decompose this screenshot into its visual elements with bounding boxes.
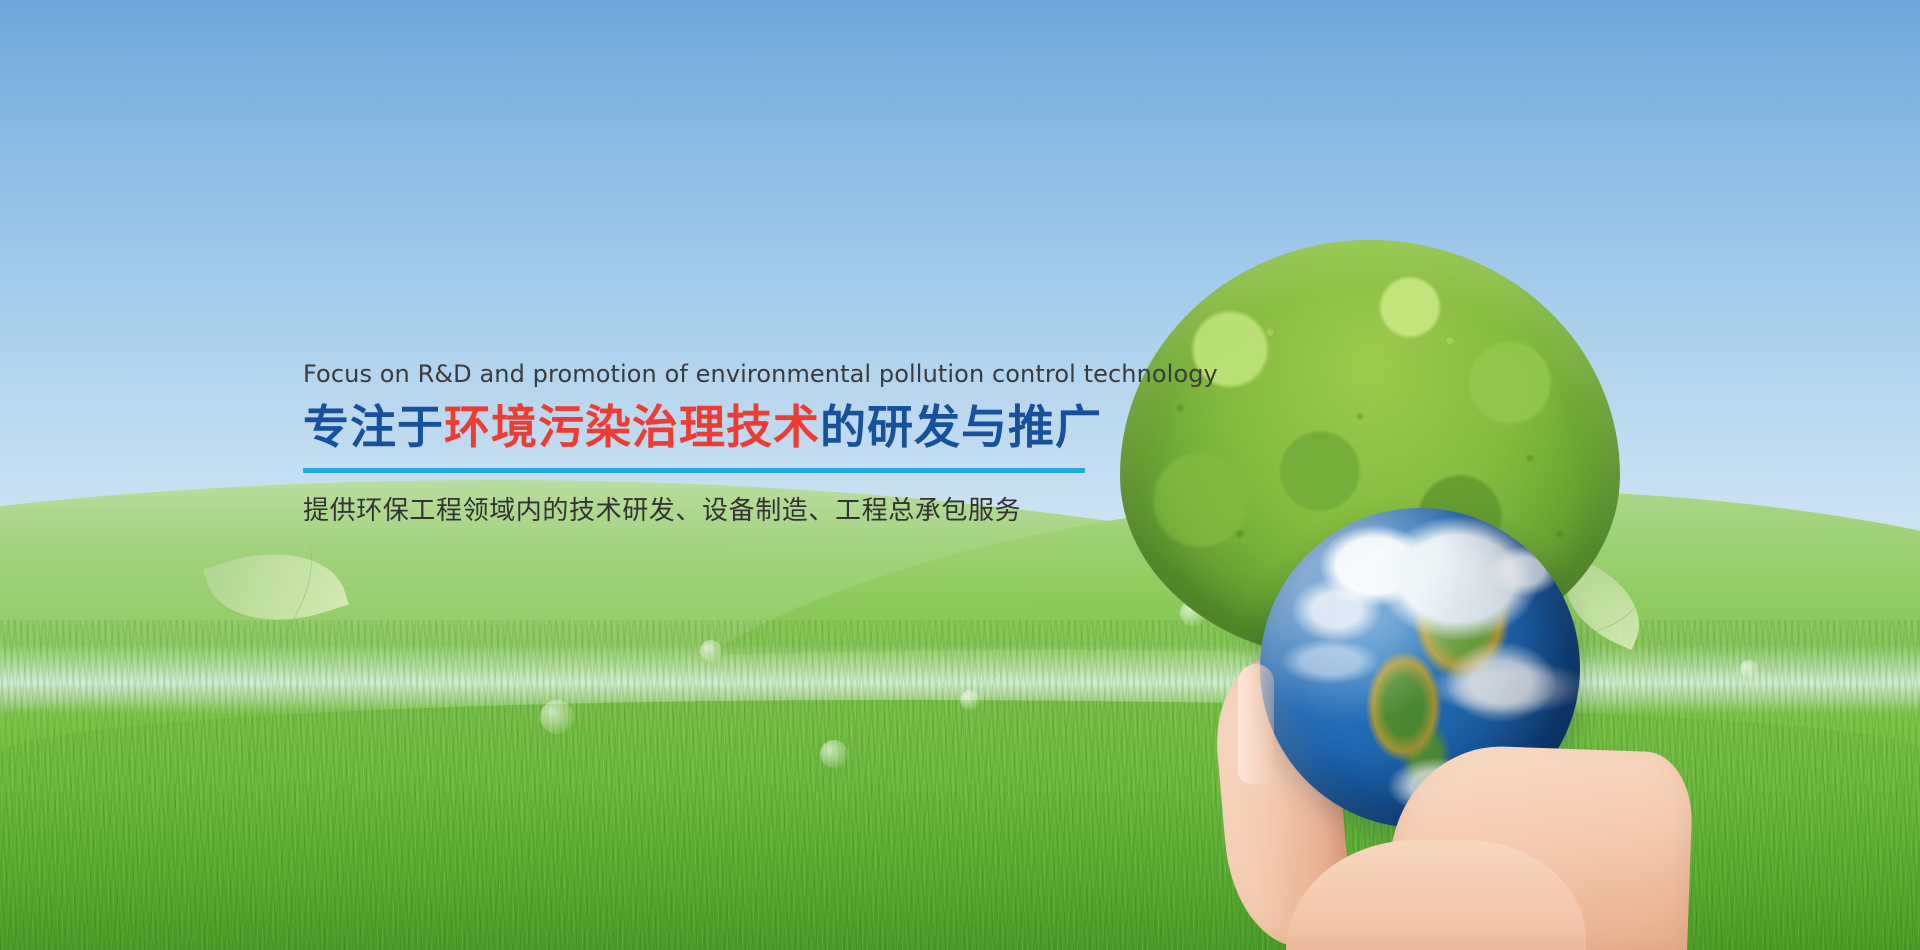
banner-subline-text: 提供环保工程领域内的技术研发、设备制造、工程总承包服务 <box>303 494 1103 528</box>
finger-highlight <box>1238 664 1274 784</box>
headline-emphasis: 环境污染治理技术 <box>444 401 820 453</box>
banner-eyebrow-text: Focus on R&D and promotion of environmen… <box>303 360 1103 389</box>
tree-globe-hands-illustration <box>1090 240 1650 950</box>
headline-divider <box>303 468 1085 473</box>
headline-trail: 的研发与推广 <box>820 401 1102 453</box>
banner-headline: 专注于环境污染治理技术的研发与推广 <box>303 400 1103 454</box>
headline-lead: 专注于 <box>303 401 444 453</box>
banner-copy: Focus on R&D and promotion of environmen… <box>303 360 1103 528</box>
hero-banner: Focus on R&D and promotion of environmen… <box>0 0 1920 950</box>
